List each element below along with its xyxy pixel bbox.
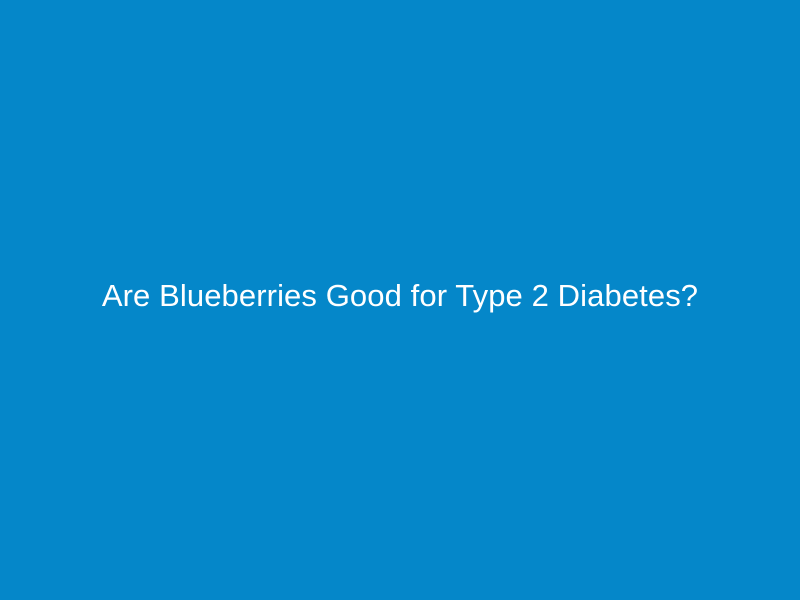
page-title: Are Blueberries Good for Type 2 Diabetes… (102, 277, 698, 316)
headline-card: Are Blueberries Good for Type 2 Diabetes… (0, 0, 800, 600)
